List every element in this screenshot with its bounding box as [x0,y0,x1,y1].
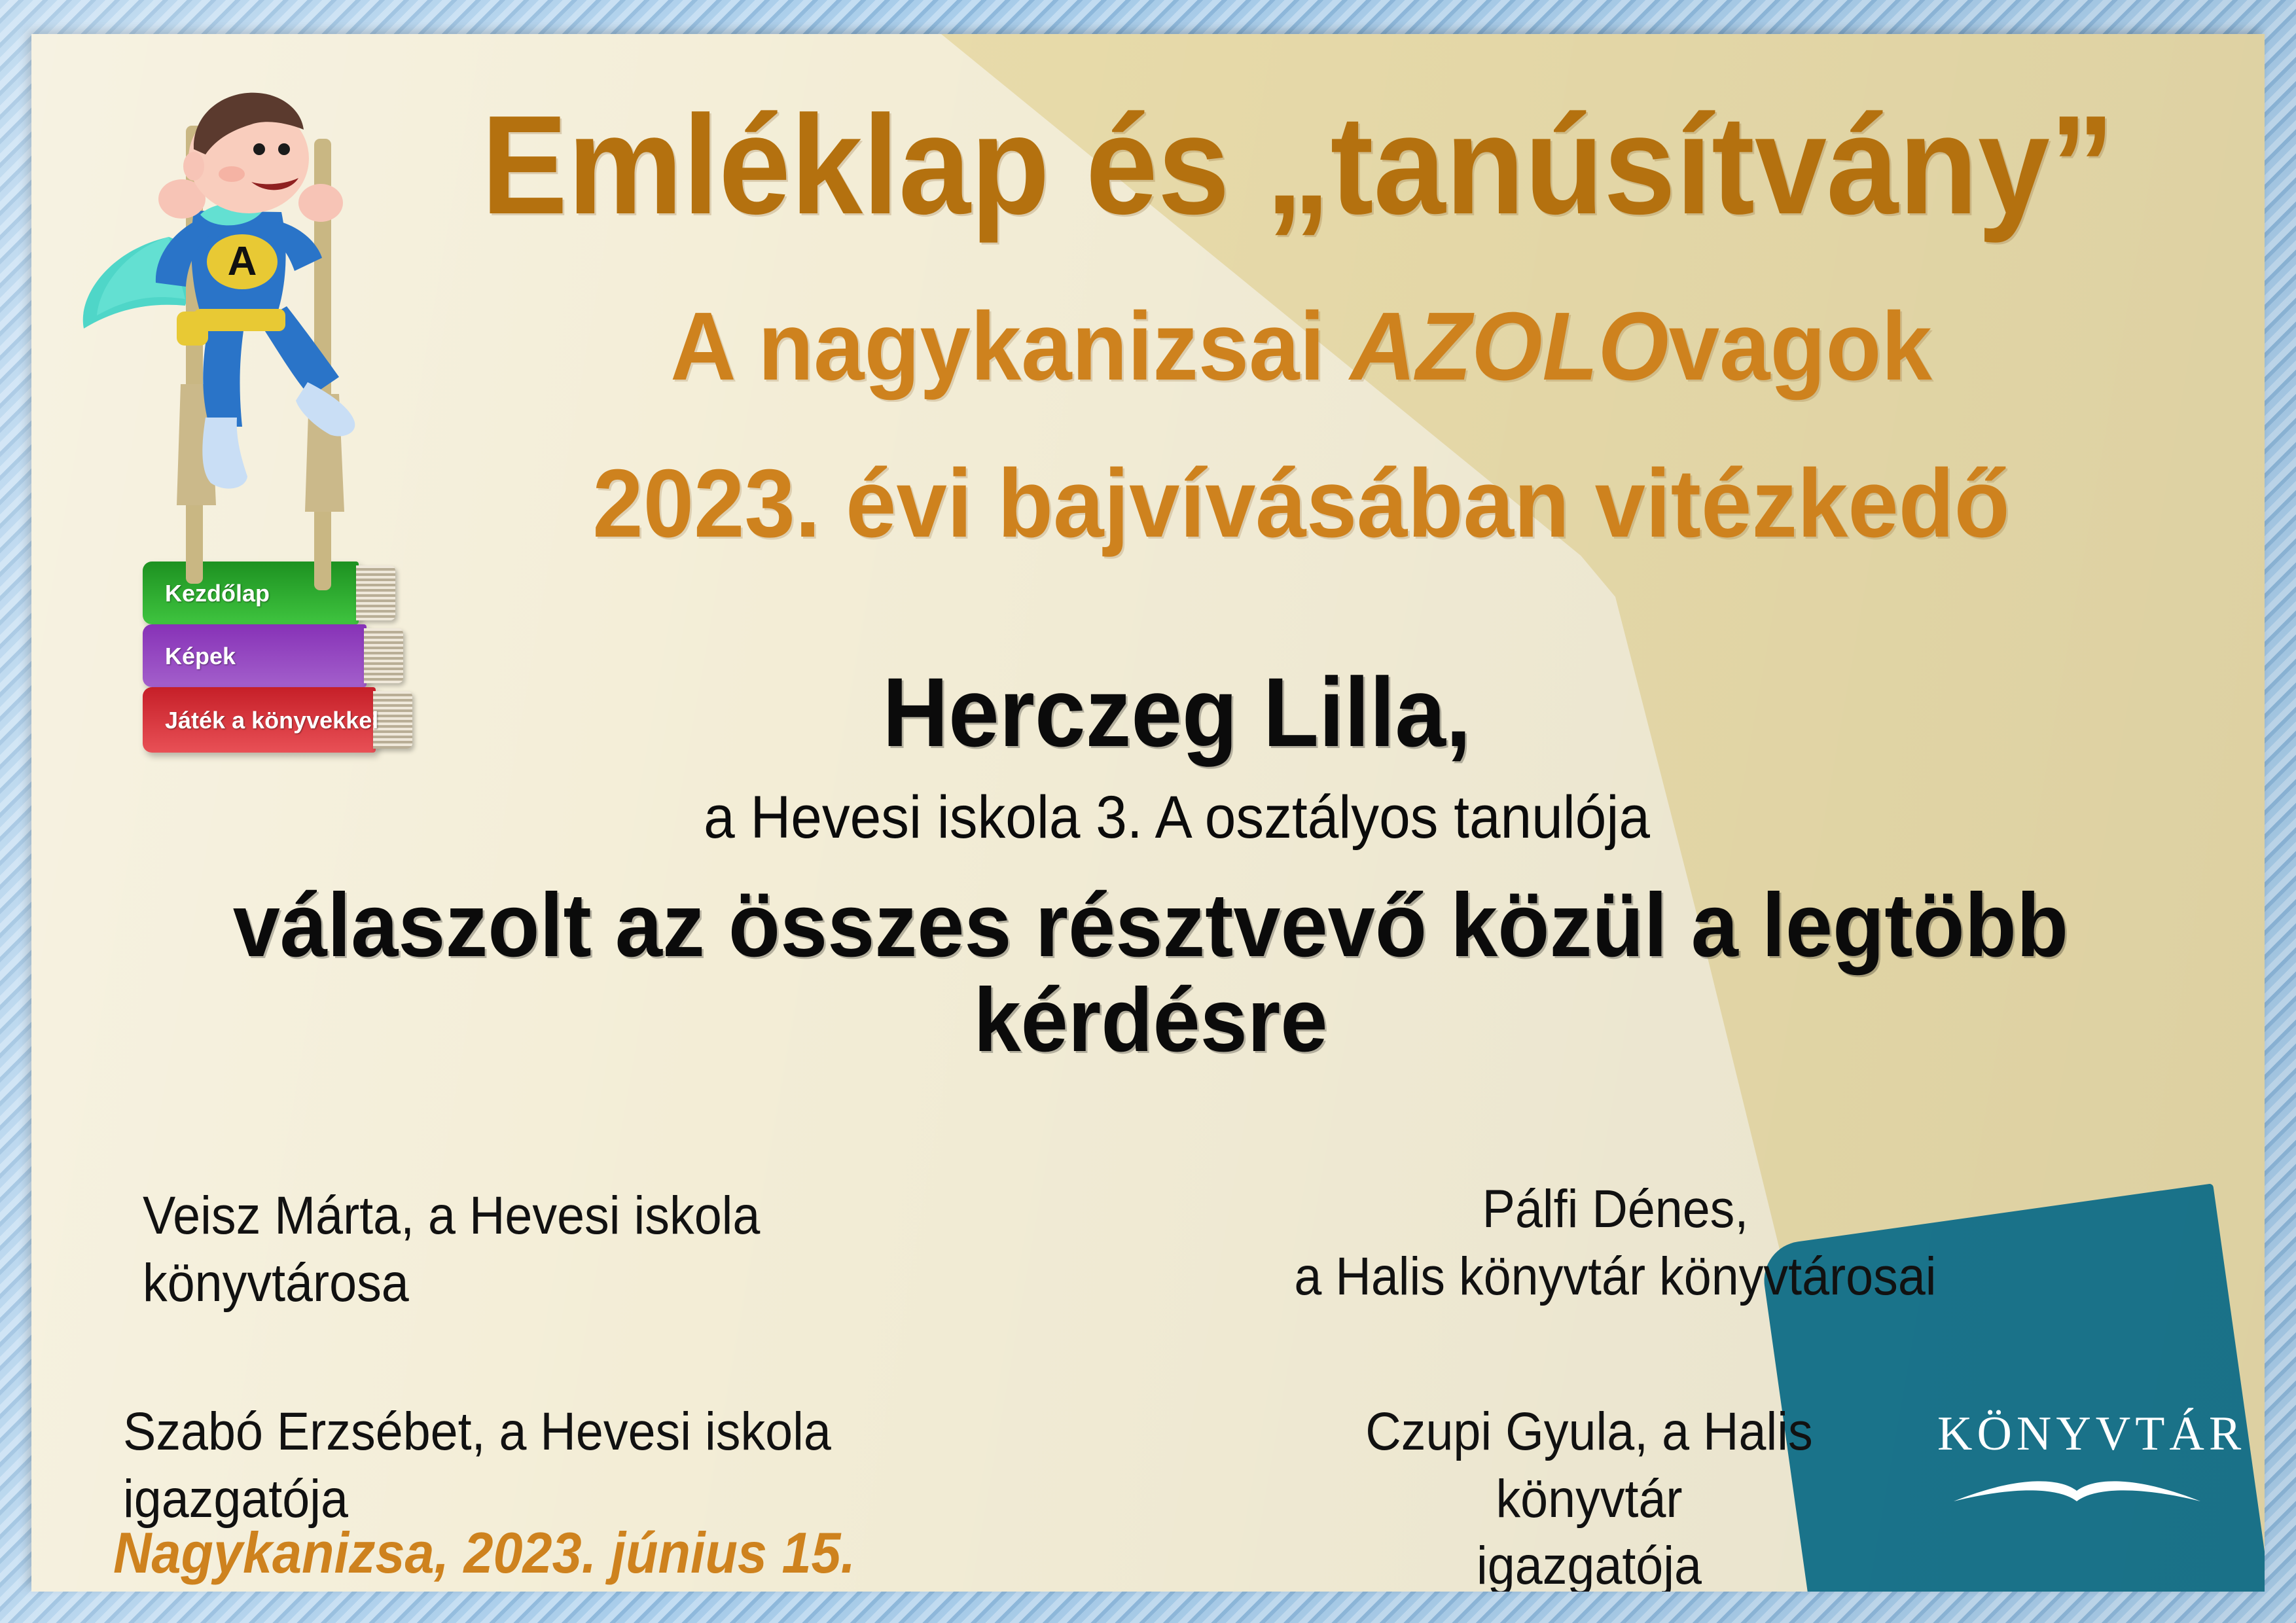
certificate-subtitle-line-1: A nagykanizsai AZOLOvagok [427,296,2175,397]
certificate-subtitle-line-2: 2023. évi bajvívásában vitézkedő [427,453,2175,554]
certificate-title: Emléklap és „tanúsítvány” [446,93,2150,236]
open-book-icon [1950,1461,2206,1513]
recipient-detail: a Hevesi iskola 3. A osztályos tanulója [295,783,2060,852]
subtitle-prefix: A nagykanizsai [670,293,1350,401]
library-logo-text: KÖNYVTÁR [1937,1410,2219,1458]
mascot-illustration: A [71,86,437,774]
certificate-frame: KÖNYVTÁR [0,0,2296,1623]
mascot-emblem: A [228,239,257,284]
subtitle-suffix: vagok [1669,293,1932,401]
signature-line: a Halis könyvtár könyvtárosai [1290,1243,1941,1311]
signature-line: Czupi Gyula, a Halis könyvtár [1288,1399,1890,1533]
signature-librarian-school: Veisz Márta, a Hevesi iskola könyvtárosa [143,1183,925,1317]
certificate-card: KÖNYVTÁR [31,34,2265,1592]
signature-line: Pálfi Dénes, [1290,1176,1941,1243]
signature-principal-school: Szabó Erzsébet, a Hevesi iskola igazgató… [123,1399,966,1533]
recipient-name: Herczeg Lilla, [295,662,2060,762]
library-logo: KÖNYVTÁR [1937,1410,2219,1513]
boot-left [202,418,247,489]
subtitle-brand: AZOLO [1350,293,1669,401]
signature-library-director: Czupi Gyula, a Halis könyvtár igazgatója [1288,1399,1890,1592]
signature-line: igazgatója [1288,1533,1890,1592]
leg-left [203,319,245,427]
place-and-date: Nagykanizsa, 2023. június 15. [113,1520,855,1586]
signature-library-librarians: Pálfi Dénes, a Halis könyvtár könyvtáros… [1290,1176,1941,1310]
achievement-text: válaszolt az összes résztvevő közül a le… [135,878,2166,1068]
